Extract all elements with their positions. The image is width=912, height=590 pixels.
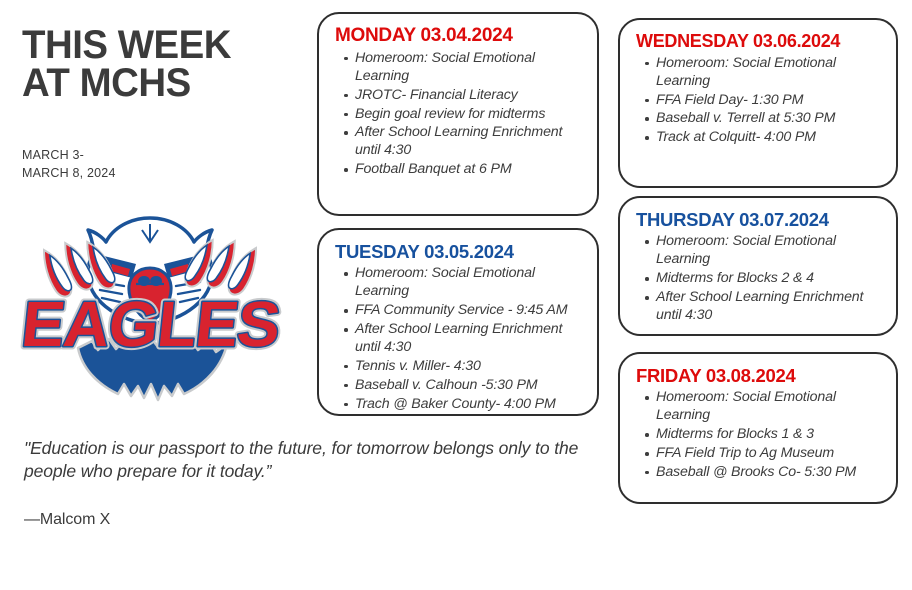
day-card-thursday: THURSDAY 03.07.2024 Homeroom: Social Emo… bbox=[618, 196, 898, 336]
day-card-list-item: After School Learning Enrichment until 4… bbox=[355, 321, 583, 357]
day-card-list-item: Homeroom: Social Emotional Learning bbox=[656, 55, 882, 91]
day-card-wednesday: WEDNESDAY 03.06.2024 Homeroom: Social Em… bbox=[618, 18, 898, 188]
day-card-list-item: FFA Field Day- 1:30 PM bbox=[656, 92, 882, 110]
day-card-list-item: Trach @ Baker County- 4:00 PM bbox=[355, 396, 583, 414]
page-title: THIS WEEK AT MCHS bbox=[22, 26, 286, 102]
day-card-list: Homeroom: Social Emotional LearningMidte… bbox=[636, 233, 882, 324]
left-panel: THIS WEEK AT MCHS MARCH 3- MARCH 8, 2024 bbox=[0, 0, 310, 590]
day-card-list: Homeroom: Social Emotional LearningFFA F… bbox=[636, 55, 882, 147]
day-card-list-item: Track at Colquitt- 4:00 PM bbox=[656, 129, 882, 147]
day-card-title: THURSDAY 03.07.2024 bbox=[636, 210, 882, 230]
day-card-list-item: FFA Field Trip to Ag Museum bbox=[656, 445, 882, 463]
day-card-title: MONDAY 03.04.2024 bbox=[335, 26, 583, 47]
day-card-list-item: Homeroom: Social Emotional Learning bbox=[656, 233, 882, 269]
day-card-list-item: Football Banquet at 6 PM bbox=[355, 161, 583, 179]
day-card-list-item: Midterms for Blocks 1 & 3 bbox=[656, 426, 882, 444]
mchs-eagles-logo: EAGLES EAGLES bbox=[8, 198, 293, 420]
day-card-list-item: Homeroom: Social Emotional Learning bbox=[656, 389, 882, 425]
eagles-wordmark: EAGLES EAGLES bbox=[18, 288, 283, 360]
day-card-list-item: Midterms for Blocks 2 & 4 bbox=[656, 270, 882, 288]
date-range-subtitle: MARCH 3- MARCH 8, 2024 bbox=[22, 146, 116, 182]
day-card-list: Homeroom: Social Emotional LearningMidte… bbox=[636, 389, 882, 481]
quote-block: "Education is our passport to the future… bbox=[24, 437, 584, 529]
svg-text:EAGLES: EAGLES bbox=[18, 288, 283, 360]
day-card-list-item: Baseball v. Calhoun -5:30 PM bbox=[355, 377, 583, 395]
day-card-friday: FRIDAY 03.08.2024 Homeroom: Social Emoti… bbox=[618, 352, 898, 504]
day-card-list-item: Homeroom: Social Emotional Learning bbox=[355, 50, 583, 86]
day-card-list-item: After School Learning Enrichment until 4… bbox=[355, 124, 583, 160]
day-card-list: Homeroom: Social Emotional LearningJROTC… bbox=[335, 50, 583, 179]
quote-text: "Education is our passport to the future… bbox=[24, 437, 584, 483]
day-card-list-item: Baseball @ Brooks Co- 5:30 PM bbox=[656, 464, 882, 482]
day-card-list-item: FFA Community Service - 9:45 AM bbox=[355, 302, 583, 320]
day-card-title: TUESDAY 03.05.2024 bbox=[335, 242, 583, 262]
quote-attribution: —Malcom X bbox=[24, 511, 584, 529]
day-card-title: FRIDAY 03.08.2024 bbox=[636, 366, 882, 386]
day-card-list-item: After School Learning Enrichment until 4… bbox=[656, 289, 882, 325]
eagles-logo-graphic: EAGLES EAGLES bbox=[8, 198, 293, 420]
day-card-list-item: Homeroom: Social Emotional Learning bbox=[355, 265, 583, 301]
day-card-tuesday: TUESDAY 03.05.2024 Homeroom: Social Emot… bbox=[317, 228, 599, 416]
day-card-list: Homeroom: Social Emotional LearningFFA C… bbox=[335, 265, 583, 413]
day-card-monday: MONDAY 03.04.2024 Homeroom: Social Emoti… bbox=[317, 12, 599, 216]
day-card-list-item: JROTC- Financial Literacy bbox=[355, 87, 583, 105]
day-card-list-item: Begin goal review for midterms bbox=[355, 106, 583, 124]
day-card-title: WEDNESDAY 03.06.2024 bbox=[636, 32, 882, 52]
day-card-list-item: Tennis v. Miller- 4:30 bbox=[355, 358, 583, 376]
weekly-announcement-poster: THIS WEEK AT MCHS MARCH 3- MARCH 8, 2024 bbox=[0, 0, 912, 590]
day-card-list-item: Baseball v. Terrell at 5:30 PM bbox=[656, 110, 882, 128]
